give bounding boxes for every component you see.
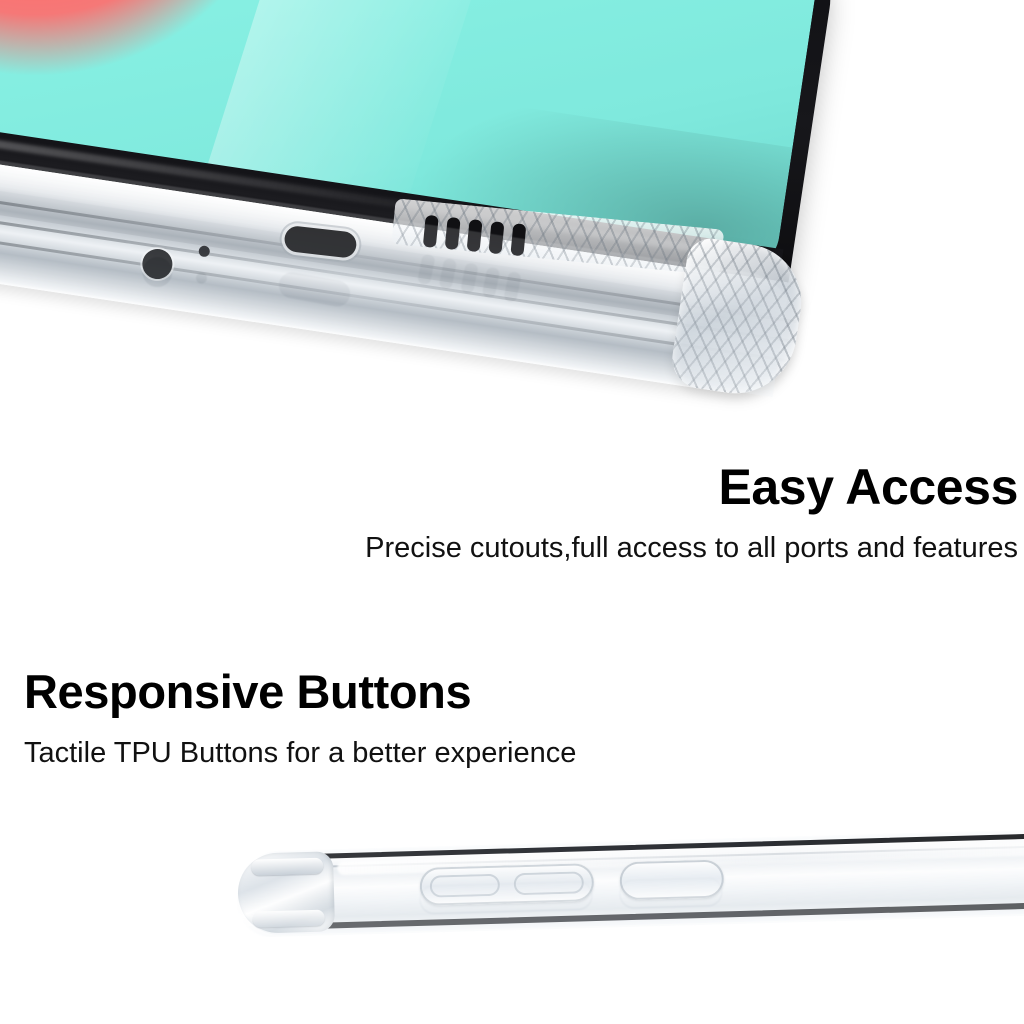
reflection-usb xyxy=(277,270,353,309)
feature-block-easy-access: Easy Access Precise cutouts,full access … xyxy=(365,462,1018,563)
reflection-speaker-hole xyxy=(417,253,436,285)
reflection-power-button xyxy=(619,876,724,909)
reflection-mic xyxy=(195,272,208,285)
reflection-jack xyxy=(140,255,174,289)
reflection-speaker-hole xyxy=(460,262,479,294)
top-product-image xyxy=(0,0,1024,470)
feature-subline: Precise cutouts,full access to all ports… xyxy=(365,534,1018,563)
reflection-speaker-hole xyxy=(482,267,501,299)
reflection-speaker-hole xyxy=(503,271,522,303)
feature-block-responsive-buttons: Responsive Buttons Tactile TPU Buttons f… xyxy=(24,668,576,768)
bottom-product-image xyxy=(0,820,1024,1024)
reflection-speaker-hole xyxy=(438,258,457,290)
reflection-volume-rocker xyxy=(419,880,594,915)
product-feature-page: Easy Access Precise cutouts,full access … xyxy=(0,0,1024,1024)
feature-headline: Easy Access xyxy=(365,462,1018,512)
feature-headline: Responsive Buttons xyxy=(24,668,576,715)
feature-subline: Tactile TPU Buttons for a better experie… xyxy=(24,739,576,768)
reflection-grille xyxy=(417,253,522,303)
